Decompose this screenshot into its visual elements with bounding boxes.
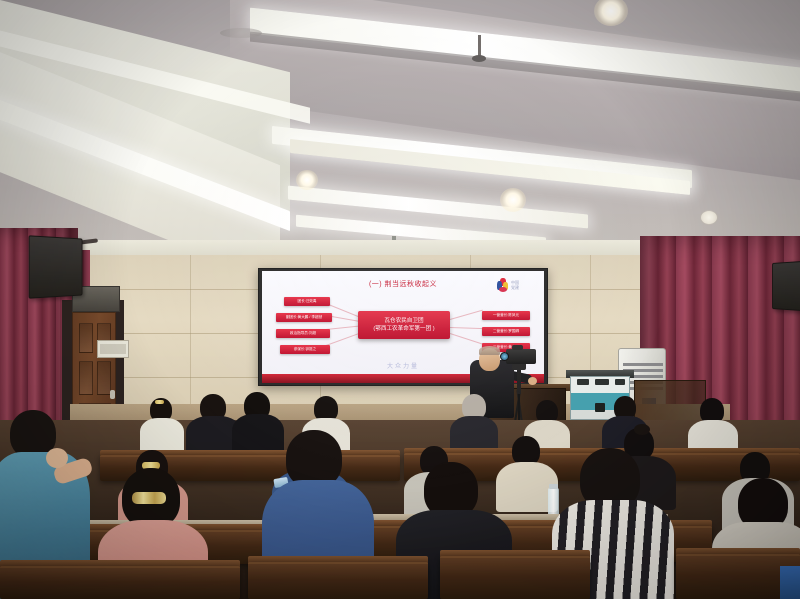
- wall-vseam-1: [190, 255, 191, 415]
- bench-row-1-left: [0, 566, 240, 599]
- ceiling-hook-rod: [478, 35, 481, 57]
- slide-logo: 中国 党建: [496, 276, 536, 294]
- connector-left-4: [326, 333, 360, 346]
- connector-right-3: [450, 333, 483, 344]
- camera-lens-icon: [500, 352, 509, 361]
- slide-node-left-4: 参谋长:钟挺之: [280, 345, 330, 354]
- connector-left-3: [326, 325, 360, 330]
- slide-node-center-line2: (鄂西工农革命军第一团 ): [373, 325, 434, 333]
- downlight-4: [700, 210, 718, 225]
- ceiling: [0, 0, 800, 265]
- presenter-hand: [528, 377, 537, 385]
- lecture-hall-photo: (一) 荆当远秋收起义 中国 党建 团长:汪效禹 副团长:黄大鹏 / 李超然 政…: [0, 0, 800, 599]
- slide-node-left-1: 团长:汪效禹: [284, 297, 330, 306]
- bench-row-1-mid: [248, 562, 428, 599]
- slide-node-left-2: 副团长:黄大鹏 / 李超然: [276, 313, 332, 322]
- connector-right-2: [450, 327, 484, 329]
- video-camera-handle: [512, 345, 523, 350]
- presenter-hair: [479, 346, 500, 355]
- slide-node-right-1: 一营营长:陈凤元: [482, 311, 530, 320]
- wall-mounted-loudspeaker-right: [772, 261, 800, 311]
- wall-electrical-panel-grill: [100, 344, 126, 354]
- front-person-hand: [46, 448, 68, 468]
- video-camera: [506, 349, 536, 364]
- door-knob[interactable]: [110, 390, 115, 399]
- slide-node-right-2: 二营营长:罗国卿: [482, 327, 530, 336]
- party-emblem-icon: [496, 278, 509, 293]
- bench-row-1-right: [440, 556, 590, 599]
- slide-node-center: 瓦仓农民自卫团 (鄂西工农革命军第一团 ): [358, 311, 450, 339]
- downlight-2: [296, 170, 318, 190]
- ceiling-air-vent-top: [220, 28, 262, 38]
- blue-chair: [780, 566, 800, 599]
- ceiling-hook-base: [472, 55, 486, 62]
- connector-right-1: [450, 310, 483, 320]
- tripod-column: [517, 368, 521, 394]
- water-bottle-cap: [549, 484, 558, 489]
- downlight-3: [500, 188, 526, 212]
- slide-logo-text: 中国 党建: [511, 280, 519, 290]
- wall-mounted-loudspeaker-left: [29, 235, 83, 298]
- stage-side-desk: [634, 380, 706, 424]
- slide-node-left-3: 政治指导员:刘超: [276, 329, 330, 338]
- slide-node-center-line1: 瓦仓农民自卫团: [384, 317, 423, 325]
